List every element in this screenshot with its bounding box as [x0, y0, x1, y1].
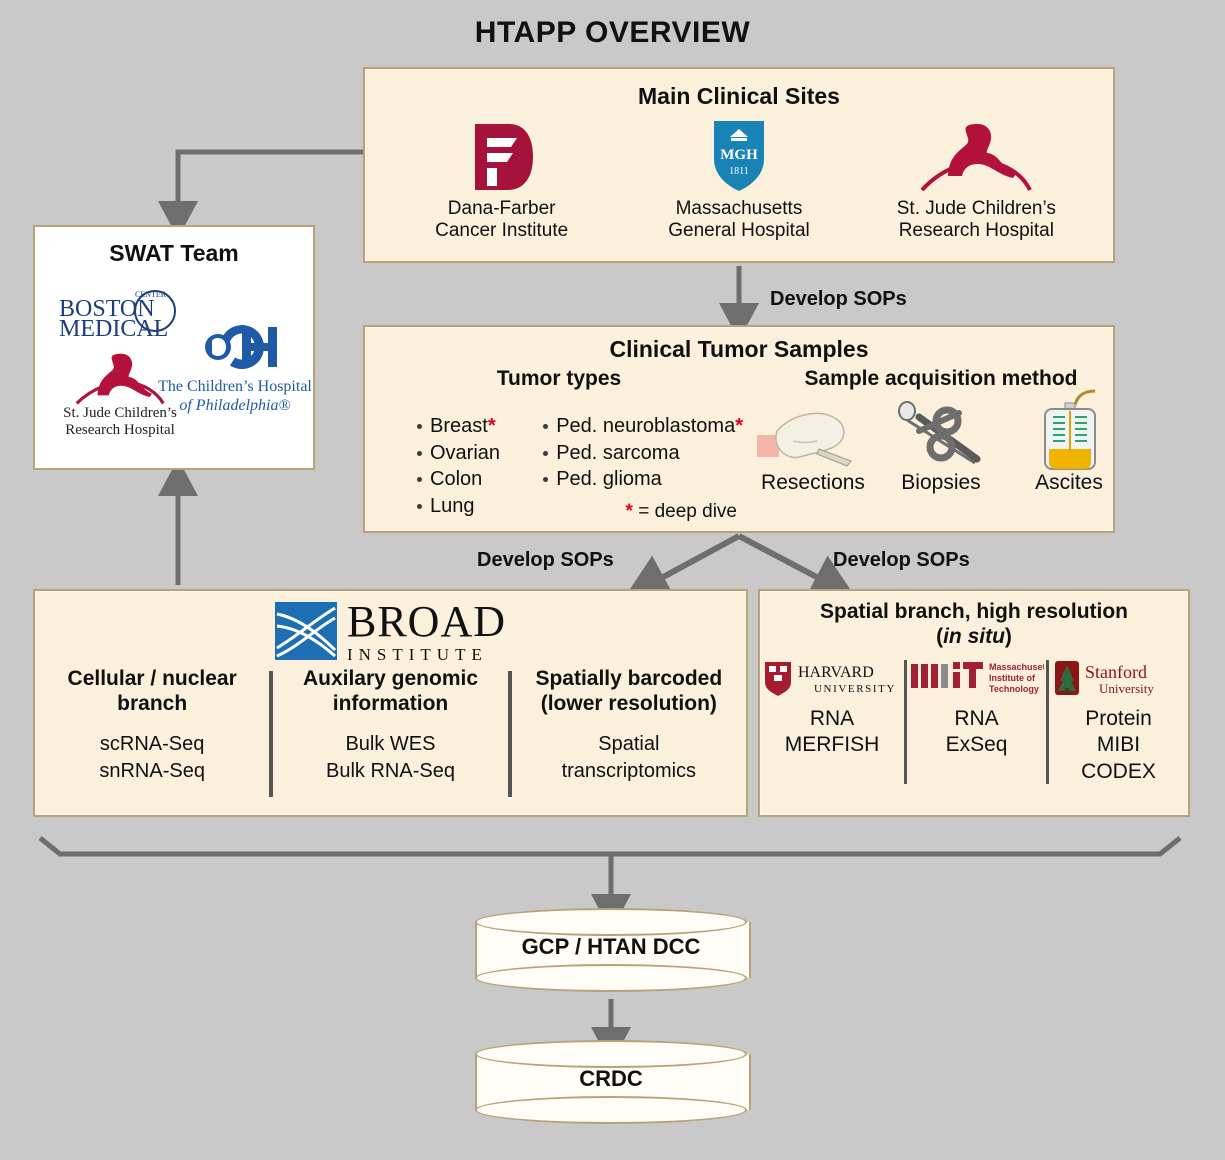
acquisition-method-resections: Resections	[749, 393, 877, 495]
mgh-shield-text: MGH	[720, 147, 758, 163]
tumor-types-heading: Tumor types	[375, 367, 743, 391]
sop-label-samples-to-spatial: Develop SOPs	[833, 549, 970, 572]
swat-team-panel: SWAT Team BOSTON MEDICAL CENTER	[33, 225, 315, 470]
stjude-line2: Research Hospital	[45, 422, 195, 439]
broad-column-spatially-barcoded: Spatially barcoded (lower resolution) Sp…	[512, 667, 746, 809]
arrow-samples-to-spatial	[739, 536, 828, 583]
spatial-column-mit: Massachusetts Institute of Technology RN…	[907, 656, 1046, 796]
arrow-sites-to-swat	[178, 152, 363, 212]
sample-acquisition-section: Sample acquisition method Resections	[749, 367, 1133, 517]
harvard-university-logo: HARVARD UNIVERSITY	[762, 656, 902, 700]
main-clinical-sites-panel: Main Clinical Sites Dana-Farber Cancer I…	[363, 67, 1115, 263]
drainage-bag-icon	[1005, 393, 1133, 471]
clinical-site-dana-farber: Dana-Farber Cancer Institute	[397, 116, 607, 242]
clinical-site-mgh: MGH 1811 Massachusetts General Hospital	[634, 116, 844, 242]
clinical-tumor-samples-panel: Clinical Tumor Samples Tumor types Breas…	[363, 325, 1115, 533]
sop-label-samples-to-broad: Develop SOPs	[477, 549, 614, 572]
spatial-column-harvard: HARVARD UNIVERSITY RNA MERFISH	[760, 656, 904, 796]
site-name-line2: General Hospital	[634, 220, 844, 242]
tumor-type-item: Ped. neuroblastoma*	[541, 413, 743, 440]
spatial-column-items: RNA MERFISH	[762, 706, 902, 760]
mit-line2: Institute of	[989, 673, 1036, 683]
acquisition-method-ascites: Ascites	[1005, 393, 1133, 495]
cylinder-bottom-ellipse	[475, 964, 747, 992]
harvard-line2: UNIVERSITY	[814, 683, 896, 695]
bmc-line2: MEDICAL	[59, 316, 168, 342]
tumor-type-item: Lung	[415, 493, 501, 520]
column-items: Bulk WES Bulk RNA-Seq	[279, 731, 501, 785]
acquisition-label: Biopsies	[877, 471, 1005, 495]
column-items: Spatial transcriptomics	[518, 731, 740, 785]
gcp-htan-dcc-cylinder: GCP / HTAN DCC	[475, 908, 747, 998]
tumor-type-item: Breast*	[415, 413, 501, 440]
gloved-hand-scalpel-icon	[749, 393, 877, 471]
spatial-column-items: Protein MIBI CODEX	[1051, 706, 1186, 787]
acquisition-label: Ascites	[1005, 471, 1133, 495]
site-name-line2: Cancer Institute	[397, 220, 607, 242]
arrow-samples-to-broad	[652, 536, 739, 583]
mgh-shield-logo: MGH 1811	[634, 116, 844, 194]
page-title: HTAPP OVERVIEW	[0, 16, 1225, 50]
deep-dive-legend: * = deep dive	[626, 501, 737, 523]
acquisition-label: Resections	[749, 471, 877, 495]
clinical-site-name: Dana-Farber Cancer Institute	[397, 198, 607, 242]
harvard-line1: HARVARD	[798, 664, 874, 681]
column-heading: Spatially barcoded (lower resolution)	[518, 667, 740, 717]
acquisition-method-biopsies: Biopsies	[877, 393, 1005, 495]
crdc-cylinder: CRDC	[475, 1040, 747, 1130]
stanford-line1: Stanford	[1085, 662, 1147, 682]
tumor-type-item: Ovarian	[415, 440, 501, 467]
site-name-line2: Research Hospital	[871, 220, 1081, 242]
cylinder-top-ellipse	[475, 908, 747, 936]
deep-dive-star: *	[488, 415, 496, 437]
stanford-line2: University	[1099, 681, 1154, 696]
tumor-type-item: Colon	[415, 466, 501, 493]
sop-label-sites-to-samples: Develop SOPs	[770, 288, 907, 311]
cylinder-label: CRDC	[475, 1066, 747, 1092]
column-heading: Auxilary genomic information	[279, 667, 501, 717]
swat-team-title: SWAT Team	[35, 240, 313, 267]
mit-line1: Massachusetts	[989, 662, 1044, 672]
tumor-types-section: Tumor types Breast* Ovarian Colon Lung P…	[365, 367, 743, 517]
tumor-types-column-1: Breast* Ovarian Colon Lung	[375, 413, 501, 519]
spatial-branch-title: Spatial branch, high resolution (in situ…	[760, 600, 1188, 650]
st-jude-logo: St. Jude Children’s Research Hospital	[45, 349, 195, 440]
st-jude-logo	[871, 116, 1081, 194]
column-heading: Cellular / nuclear branch	[41, 667, 263, 717]
broad-subwordmark: INSTITUTE	[347, 646, 506, 663]
bmc-arc-text: CENTER	[135, 290, 167, 299]
main-clinical-sites-title: Main Clinical Sites	[365, 83, 1113, 110]
broad-institute-logo: BROAD INSTITUTE	[35, 597, 746, 665]
cylinder-top-ellipse	[475, 1040, 747, 1068]
stanford-university-logo: Stanford University	[1051, 656, 1186, 700]
spatial-branch-panel: Spatial branch, high resolution (in situ…	[758, 589, 1190, 817]
scissors-needle-icon	[877, 393, 1005, 471]
stjude-line1: St. Jude Children’s	[45, 405, 195, 422]
spatial-column-stanford: Stanford University Protein MIBI CODEX	[1049, 656, 1188, 796]
column-items: scRNA-Seq snRNA-Seq	[41, 731, 263, 785]
broad-column-cellular-nuclear: Cellular / nuclear branch scRNA-Seq snRN…	[35, 667, 269, 809]
site-name-line1: Massachusetts	[634, 198, 844, 220]
clinical-site-st-jude: St. Jude Children’s Research Hospital	[871, 116, 1081, 242]
tumor-type-item: Ped. sarcoma	[541, 440, 743, 467]
broad-branch-panel: BROAD INSTITUTE Cellular / nuclear branc…	[33, 589, 748, 817]
bracket-branches-to-datastore	[40, 838, 1180, 854]
mgh-shield-year: 1811	[729, 166, 749, 177]
dana-farber-logo	[397, 116, 607, 194]
deep-dive-star: *	[735, 415, 743, 437]
cylinder-label: GCP / HTAN DCC	[475, 934, 747, 960]
site-name-line1: St. Jude Children’s	[871, 198, 1081, 220]
clinical-site-name: St. Jude Children’s Research Hospital	[871, 198, 1081, 242]
broad-column-auxilary-genomic: Auxilary genomic information Bulk WES Bu…	[273, 667, 507, 809]
tumor-type-item: Ped. glioma	[541, 466, 743, 493]
clinical-tumor-samples-title: Clinical Tumor Samples	[365, 336, 1113, 363]
spatial-column-items: RNA ExSeq	[909, 706, 1044, 760]
diagram-canvas: HTAPP OVERVIEW Main Clinical Sites Dana-…	[0, 0, 1225, 1160]
site-name-line1: Dana-Farber	[397, 198, 607, 220]
broad-wordmark: BROAD	[347, 600, 506, 644]
mit-logo: Massachusetts Institute of Technology	[909, 656, 1044, 700]
clinical-site-name: Massachusetts General Hospital	[634, 198, 844, 242]
mit-line3: Technology	[989, 684, 1039, 694]
cylinder-bottom-ellipse	[475, 1096, 747, 1124]
sample-acquisition-heading: Sample acquisition method	[749, 367, 1133, 391]
